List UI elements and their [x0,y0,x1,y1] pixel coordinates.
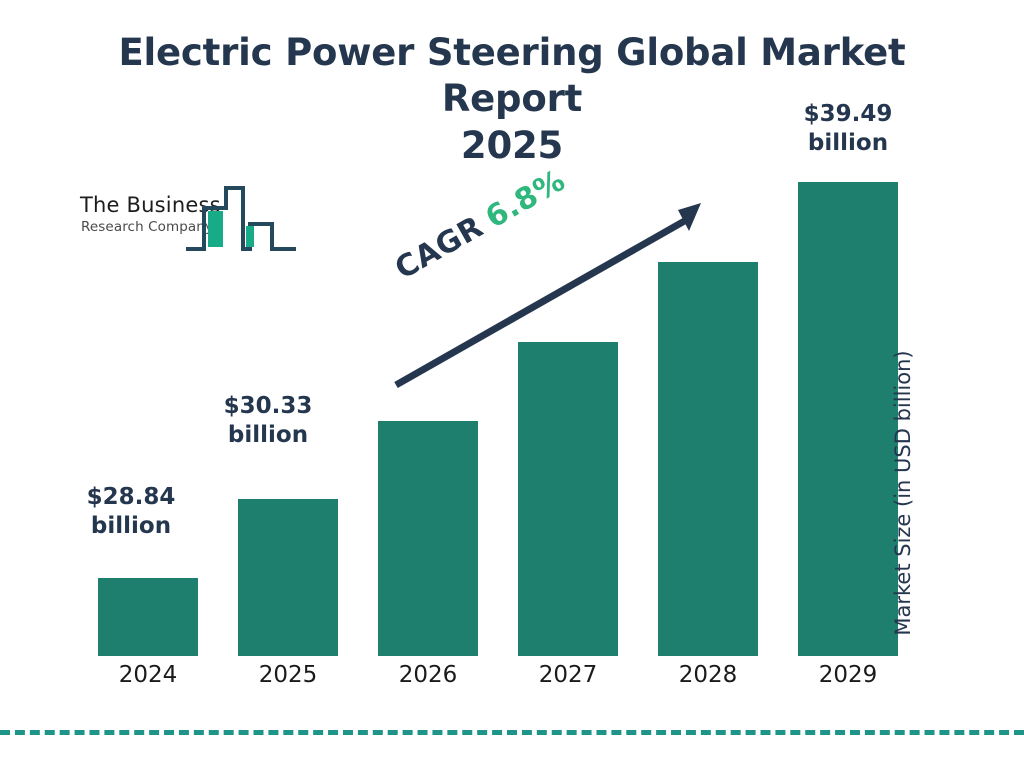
x-tick-2024: 2024 [78,662,218,688]
company-logo: The Business Research Company [78,186,288,254]
y-axis-label: Market Size (in USD billion) [888,328,918,658]
bar-2029 [798,182,898,656]
bar-value-2029: $39.49 billion [783,100,913,159]
bar-value-2024: $28.84 billion [66,483,196,542]
x-tick-2029: 2029 [778,662,918,688]
cagr-annotation-value: 6.8% [480,163,571,235]
x-tick-2028: 2028 [638,662,778,688]
x-tick-2027: 2027 [498,662,638,688]
bar-2027 [518,342,618,656]
bar-2028 [658,262,758,656]
bar-2025 [238,499,338,656]
bar-2026 [378,421,478,656]
x-tick-2025: 2025 [218,662,358,688]
bar-2024 [98,578,198,656]
bar-value-2025: $30.33 billion [203,392,333,451]
footer-divider [0,730,1024,735]
x-tick-2026: 2026 [358,662,498,688]
chart-canvas: Electric Power Steering Global Market Re… [0,0,1024,768]
bar-chart-logo-mark-icon [186,180,296,258]
cagr-annotation-label: CAGR [389,210,489,287]
cagr-annotation: CAGR6.8% [389,163,571,287]
